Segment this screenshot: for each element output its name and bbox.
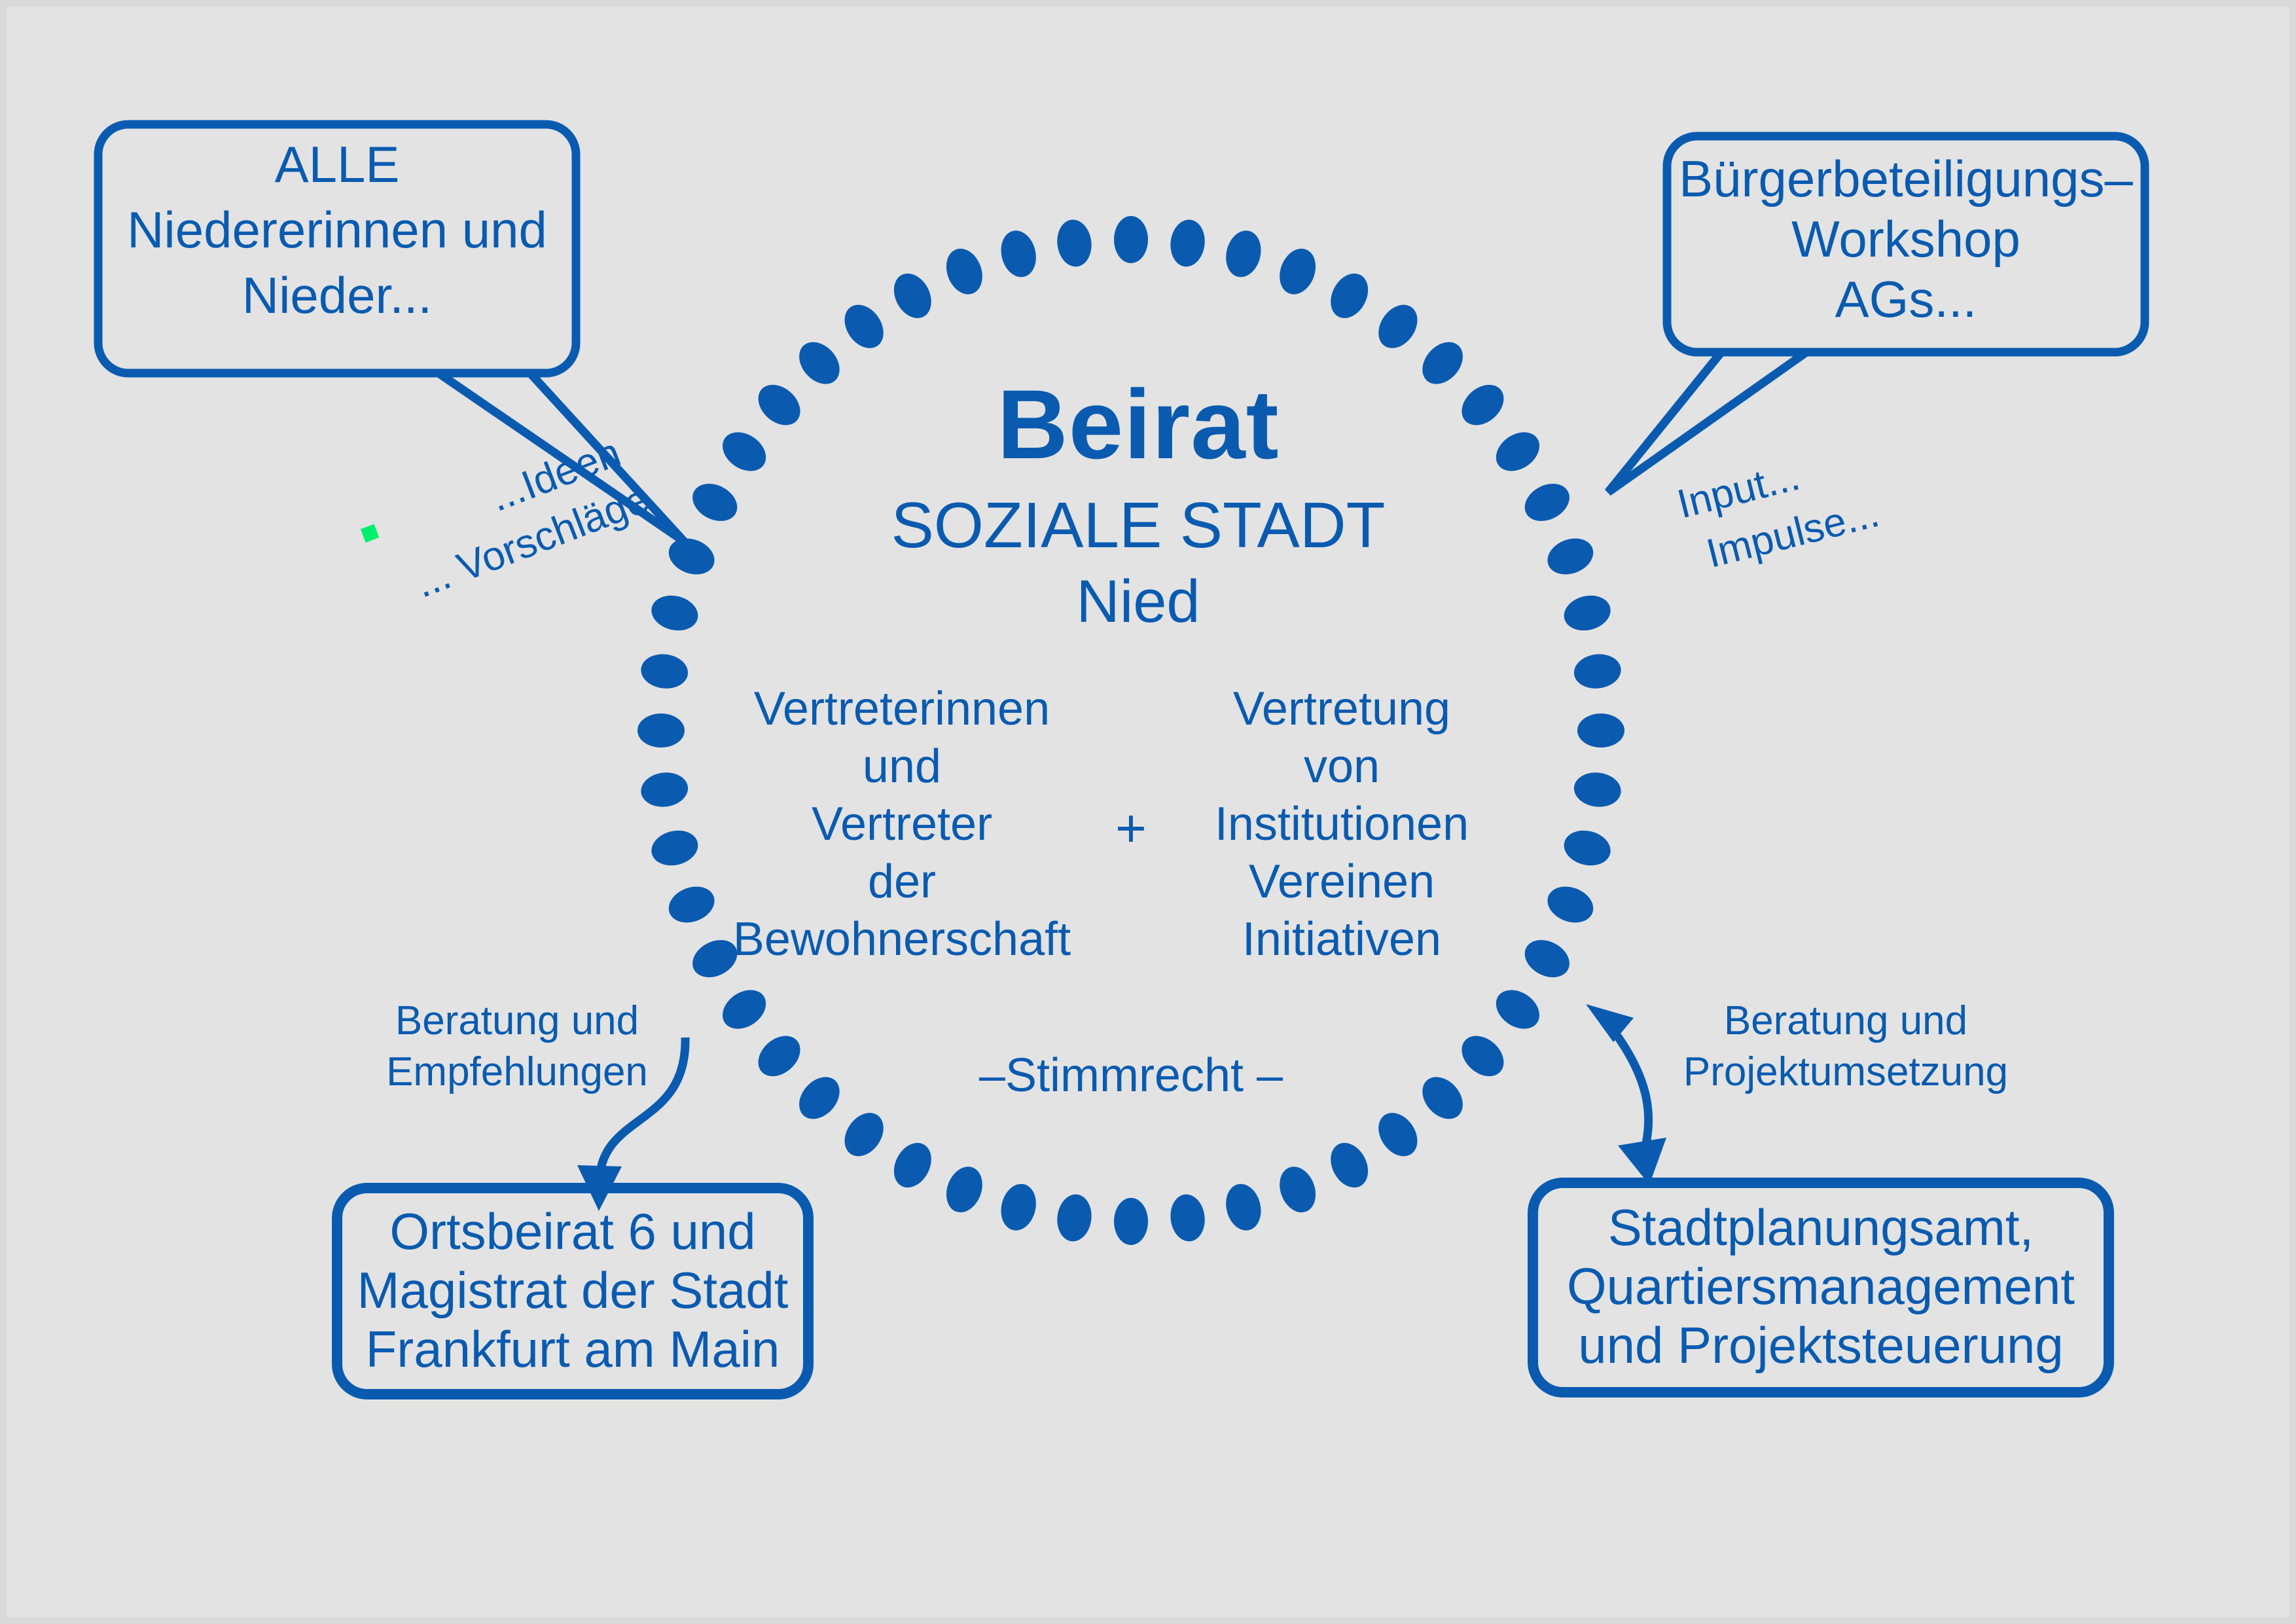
ring-dot bbox=[1518, 933, 1576, 985]
ring-dot bbox=[686, 477, 744, 529]
page-title: Beirat bbox=[997, 369, 1279, 479]
ring-dot bbox=[637, 713, 685, 748]
left-col-line-3: Vertreter bbox=[812, 798, 992, 850]
bubble-tr-line2: Workshop bbox=[1791, 210, 2020, 268]
ring-dot bbox=[1518, 477, 1576, 529]
ring-dot bbox=[1371, 297, 1426, 355]
ring-dot bbox=[750, 1028, 808, 1085]
ring-dot bbox=[1572, 651, 1623, 691]
ring-dot bbox=[1054, 1193, 1094, 1244]
center-subtitle-1: SOZIALE STADT bbox=[891, 489, 1385, 561]
ring-dot bbox=[1274, 1161, 1322, 1218]
ring-dot bbox=[1560, 826, 1614, 871]
center-left-column: Vertreterinnen und Vertreter der Bewohne… bbox=[733, 683, 1071, 965]
left-col-line-1: Vertreterinnen bbox=[754, 683, 1050, 735]
speech-bubble-top-right[interactable]: Bürgerbeteiligungs– Workshop AGs... bbox=[1608, 136, 2145, 492]
box-bottom-right[interactable]: Stadtplanungsamt, Quartiersmanagement un… bbox=[1533, 1183, 2109, 1392]
box-bl-line3: Frankfurt am Main bbox=[366, 1320, 780, 1378]
ring-dot bbox=[1221, 1180, 1266, 1234]
center-title-block: Beirat SOZIALE STADT Nied bbox=[891, 369, 1385, 635]
ring-dot bbox=[1221, 227, 1266, 281]
ring-dot bbox=[940, 244, 988, 300]
ann-bl-line1: Beratung und bbox=[395, 998, 639, 1043]
box-br-line3: und Projektsteuerung bbox=[1578, 1316, 2064, 1374]
left-col-line-5: Bewohnerschaft bbox=[733, 913, 1071, 965]
stimmrecht-label: –Stimmrecht – bbox=[979, 1049, 1283, 1102]
annotation-bottom-left: Beratung und Empfehlungen bbox=[386, 998, 648, 1094]
ring-dot bbox=[1454, 376, 1511, 433]
ann-bl-line2: Empfehlungen bbox=[386, 1049, 648, 1094]
ring-dot bbox=[1577, 713, 1624, 748]
ring-dot bbox=[1542, 532, 1598, 581]
ring-dot bbox=[1323, 267, 1376, 325]
box-bottom-left[interactable]: Ortsbeirat 6 und Magistrat der Stadt Fra… bbox=[337, 1188, 808, 1394]
green-dot-marker bbox=[361, 524, 379, 543]
ring-dot bbox=[996, 227, 1041, 281]
ring-dot bbox=[1274, 244, 1322, 300]
bubble-tl-line3: Nieder... bbox=[242, 266, 432, 324]
box-bl-line2: Magistrat der Stadt bbox=[357, 1261, 789, 1319]
center-right-column: Vertretung von Institutionen Vereinen In… bbox=[1215, 683, 1469, 965]
ann-br-line1: Beratung und bbox=[1724, 998, 1967, 1043]
ring-dot bbox=[1542, 880, 1598, 929]
plus-operator: + bbox=[1115, 799, 1147, 858]
right-col-line-4: Vereinen bbox=[1249, 856, 1435, 908]
right-col-line-3: Institutionen bbox=[1215, 798, 1469, 850]
ring-dot bbox=[887, 1136, 939, 1194]
bubble-tr-line3: AGs... bbox=[1835, 270, 1977, 328]
right-col-line-2: von bbox=[1304, 740, 1380, 793]
ring-dot bbox=[1489, 982, 1547, 1037]
center-subtitle-2: Nied bbox=[1076, 568, 1200, 635]
bubble-tl-line1: ALLE bbox=[275, 135, 400, 193]
ring-dot bbox=[715, 424, 774, 479]
ring-dot bbox=[750, 376, 808, 433]
annotation-bottom-right: Beratung und Projektumsetzung bbox=[1683, 998, 2008, 1094]
right-col-line-5: Initiativen bbox=[1242, 913, 1441, 965]
ring-dot bbox=[1114, 216, 1148, 263]
ann-br-line2: Projektumsetzung bbox=[1683, 1049, 2008, 1094]
annotation-right-rotated: Input... Impulse... bbox=[1673, 437, 1884, 581]
arrow-right-double bbox=[1586, 1004, 1666, 1185]
left-col-line-2: und bbox=[863, 740, 941, 793]
ring-dot bbox=[1454, 1028, 1511, 1085]
bubble-tl-line2: Niedererinnen und bbox=[127, 201, 547, 259]
ring-dot bbox=[715, 982, 774, 1037]
annotation-left-rotated: ...Ideen ... Vorschläge bbox=[359, 426, 655, 619]
ring-dot bbox=[887, 267, 939, 325]
ring-dot bbox=[1323, 1136, 1376, 1194]
ring-dot bbox=[836, 297, 891, 355]
ring-dot bbox=[836, 1106, 891, 1164]
ring-dot bbox=[648, 826, 702, 871]
ring-dot bbox=[996, 1180, 1041, 1234]
ring-dot bbox=[1572, 770, 1623, 809]
ring-dot bbox=[639, 770, 690, 809]
box-br-line2: Quartiersmanagement bbox=[1567, 1257, 2075, 1315]
ring-dot bbox=[639, 651, 690, 691]
ring-dot bbox=[664, 880, 720, 929]
box-bl-line1: Ortsbeirat 6 und bbox=[389, 1202, 755, 1260]
ring-dot bbox=[1560, 591, 1614, 636]
ring-dot bbox=[1168, 218, 1207, 269]
ring-dot bbox=[791, 1069, 848, 1127]
diagram-canvas: ALLE Niedererinnen und Nieder... Bürgerb… bbox=[0, 0, 2296, 1624]
ring-dot bbox=[791, 334, 848, 391]
ring-dot bbox=[1168, 1193, 1207, 1244]
ring-dot bbox=[1414, 334, 1471, 391]
ring-dot bbox=[1371, 1106, 1426, 1164]
ring-dot bbox=[1054, 218, 1094, 269]
beirat-structure-diagram: ALLE Niedererinnen und Nieder... Bürgerb… bbox=[7, 7, 2296, 1624]
ring-dot bbox=[648, 591, 702, 636]
ring-dot bbox=[664, 532, 720, 581]
ring-dot bbox=[940, 1161, 988, 1218]
left-col-line-4: der bbox=[868, 856, 936, 908]
box-br-line1: Stadtplanungsamt, bbox=[1608, 1199, 2034, 1256]
bubble-tr-line1: Bürgerbeteiligungs– bbox=[1679, 150, 2133, 208]
right-col-line-1: Vertretung bbox=[1233, 683, 1450, 735]
ring-dot bbox=[1114, 1198, 1148, 1245]
ring-dot bbox=[1489, 424, 1547, 479]
ring-dot bbox=[1414, 1069, 1471, 1127]
